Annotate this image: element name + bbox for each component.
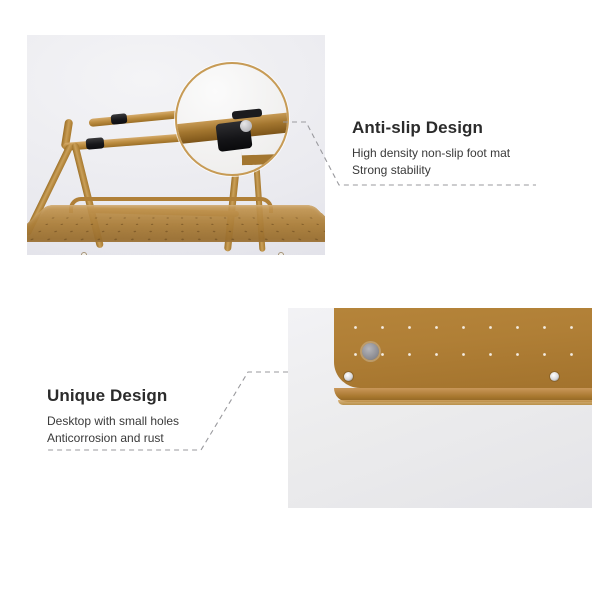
desktop-grommet: [362, 343, 379, 360]
product-photo-desktop: [288, 308, 592, 508]
desktop-hole-pattern: [342, 314, 592, 380]
callout-unique-line-1: Desktop with small holes: [47, 413, 262, 430]
callout-anti-slip-title: Anti-slip Design: [352, 117, 567, 138]
callout-unique-line-2: Anticorrosion and rust: [47, 430, 262, 447]
callout-anti-slip-line-2: Strong stability: [352, 162, 567, 179]
product-photo-anti-slip: [27, 35, 325, 255]
magnified-pivot-pin: [240, 120, 252, 132]
anti-slip-grip-lower: [86, 137, 105, 150]
infographic-stage: Anti-slip Design High density non-slip f…: [0, 0, 600, 600]
desktop-screw-left: [344, 372, 353, 381]
tray-screw-left: [82, 253, 86, 255]
callout-anti-slip-line-1: High density non-slip foot mat: [352, 145, 567, 162]
desktop-edge-secondary: [338, 400, 592, 405]
tray-hole-pattern: [27, 215, 325, 247]
magnifier-circle-icon: [175, 62, 289, 176]
callout-unique: Unique Design Desktop with small holes A…: [47, 385, 262, 447]
desktop-screw-right: [550, 372, 559, 381]
tray-screw-right: [279, 253, 283, 255]
callout-anti-slip: Anti-slip Design High density non-slip f…: [352, 117, 567, 179]
callout-unique-title: Unique Design: [47, 385, 262, 406]
anti-slip-grip-upper: [111, 113, 128, 125]
